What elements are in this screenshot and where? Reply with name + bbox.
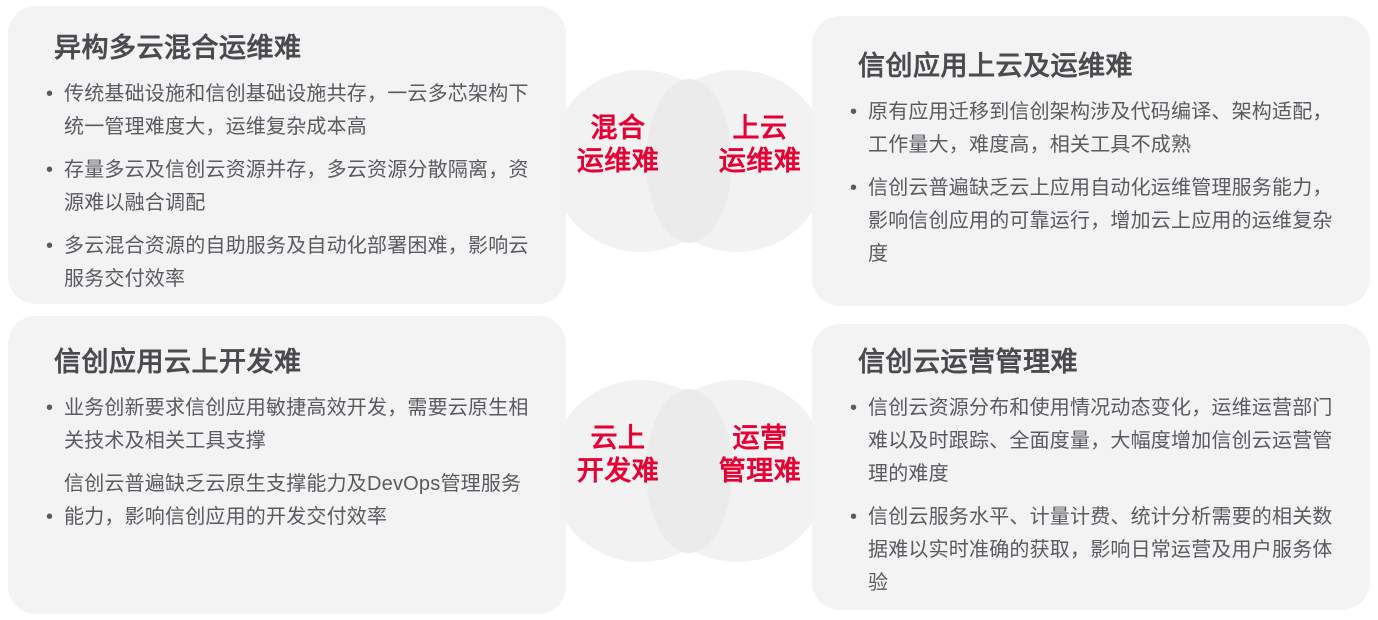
list-item-text: 业务创新要求信创应用敏捷高效开发，需要云原生相关技术及相关工具支撑: [64, 392, 536, 458]
list-item: • 传统基础设施和信创基础设施共存，一云多芯架构下统一管理难度大，运维复杂成本高: [46, 78, 536, 144]
card-title: 信创云运营管理难: [858, 346, 1342, 378]
list-item-text: 信创云普遍缺乏云上应用自动化运维管理服务能力，影响信创应用的可靠运行，增加云上应…: [868, 172, 1342, 271]
venn-label-cloud-migration-ops: 上云 运维难: [696, 112, 824, 178]
list-item: • 信创云服务水平、计量计费、统计分析需要的相关数据难以实时准确的获取，影响日常…: [850, 501, 1342, 600]
bullet-point-icon: •: [46, 78, 64, 111]
card-heterogeneous-multicloud-ops: 异构多云混合运维难 • 传统基础设施和信创基础设施共存，一云多芯架构下统一管理难…: [8, 6, 566, 304]
card-title: 异构多云混合运维难: [54, 32, 536, 64]
bullet-point-icon: •: [46, 468, 64, 534]
bullet-point-icon: •: [850, 96, 868, 129]
venn-label-cloud-development: 云上 开发难: [554, 422, 682, 488]
list-item: • 业务创新要求信创应用敏捷高效开发，需要云原生相关技术及相关工具支撑: [46, 392, 536, 458]
list-item: • 存量多云及信创云资源并存，多云资源分散隔离，资源难以融合调配: [46, 154, 536, 220]
list-item-text: 信创云资源分布和使用情况动态变化，运维运营部门难以及时跟踪、全面度量，大幅度增加…: [868, 392, 1342, 491]
bullet-list: • 原有应用迁移到信创架构涉及代码编译、架构适配，工作量大，难度高，相关工具不成…: [850, 96, 1342, 271]
bullet-list: • 传统基础设施和信创基础设施共存，一云多芯架构下统一管理难度大，运维复杂成本高…: [46, 78, 536, 296]
card-xinchuang-cloud-operations-management: 信创云运营管理难 • 信创云资源分布和使用情况动态变化，运维运营部门难以及时跟踪…: [812, 324, 1370, 610]
venn-label-operations-management: 运营 管理难: [696, 422, 824, 488]
bullet-point-icon: •: [850, 392, 868, 425]
list-item-text: 存量多云及信创云资源并存，多云资源分散隔离，资源难以融合调配: [64, 154, 536, 220]
list-item-text: 信创云服务水平、计量计费、统计分析需要的相关数据难以实时准确的获取，影响日常运营…: [868, 501, 1342, 600]
bullet-point-icon: •: [46, 154, 64, 187]
list-item: • 信创云资源分布和使用情况动态变化，运维运营部门难以及时跟踪、全面度量，大幅度…: [850, 392, 1342, 491]
bullet-list: • 业务创新要求信创应用敏捷高效开发，需要云原生相关技术及相关工具支撑 • 信创…: [46, 392, 536, 534]
bullet-point-icon: •: [46, 392, 64, 425]
bullet-point-icon: •: [850, 501, 868, 534]
list-item: • 信创云普遍缺乏云原生支撑能力及DevOps管理服务能力，影响信创应用的开发交…: [46, 468, 536, 534]
list-item-text: 多云混合资源的自助服务及自动化部署困难，影响云服务交付效率: [64, 230, 536, 296]
list-item: • 原有应用迁移到信创架构涉及代码编译、架构适配，工作量大，难度高，相关工具不成…: [850, 96, 1342, 162]
card-title: 信创应用上云及运维难: [858, 50, 1342, 82]
bullet-point-icon: •: [850, 172, 868, 205]
list-item-text: 传统基础设施和信创基础设施共存，一云多芯架构下统一管理难度大，运维复杂成本高: [64, 78, 536, 144]
venn-label-hybrid-ops: 混合 运维难: [554, 112, 682, 178]
list-item: • 多云混合资源的自助服务及自动化部署困难，影响云服务交付效率: [46, 230, 536, 296]
diagram-board: 异构多云混合运维难 • 传统基础设施和信创基础设施共存，一云多芯架构下统一管理难…: [0, 0, 1378, 620]
list-item-text: 信创云普遍缺乏云原生支撑能力及DevOps管理服务能力，影响信创应用的开发交付效…: [64, 468, 536, 534]
card-xinchuang-app-cloud-migration-ops: 信创应用上云及运维难 • 原有应用迁移到信创架构涉及代码编译、架构适配，工作量大…: [812, 16, 1370, 306]
bullet-point-icon: •: [46, 230, 64, 263]
bullet-list: • 信创云资源分布和使用情况动态变化，运维运营部门难以及时跟踪、全面度量，大幅度…: [850, 392, 1342, 600]
card-title: 信创应用云上开发难: [54, 346, 536, 378]
list-item-text: 原有应用迁移到信创架构涉及代码编译、架构适配，工作量大，难度高，相关工具不成熟: [868, 96, 1342, 162]
list-item: • 信创云普遍缺乏云上应用自动化运维管理服务能力，影响信创应用的可靠运行，增加云…: [850, 172, 1342, 271]
card-xinchuang-app-cloud-development: 信创应用云上开发难 • 业务创新要求信创应用敏捷高效开发，需要云原生相关技术及相…: [8, 316, 566, 614]
